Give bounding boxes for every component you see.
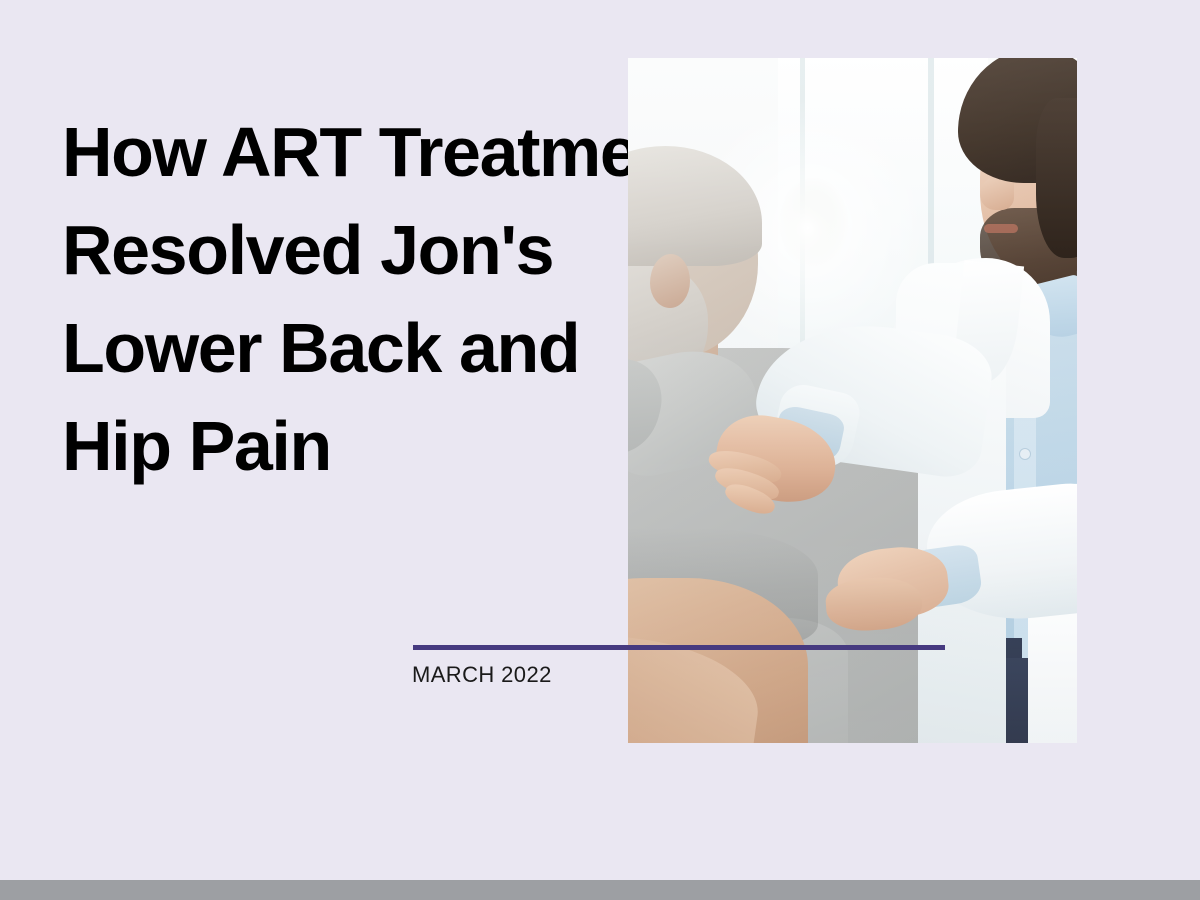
photo-soft-overlay — [628, 58, 1077, 743]
page-title: How ART Treatment Resolved Jon's Lower B… — [62, 103, 622, 495]
accent-divider-line — [413, 645, 945, 650]
title-line-4: Hip Pain — [62, 397, 622, 495]
title-line-1: How ART Treatment — [62, 103, 622, 201]
title-line-3: Lower Back and — [62, 299, 622, 397]
date-label: MARCH 2022 — [412, 662, 552, 688]
hero-photo — [628, 58, 1077, 743]
title-line-2: Resolved Jon's — [62, 201, 622, 299]
slide-canvas: How ART Treatment Resolved Jon's Lower B… — [0, 0, 1200, 900]
bottom-bar — [0, 880, 1200, 900]
